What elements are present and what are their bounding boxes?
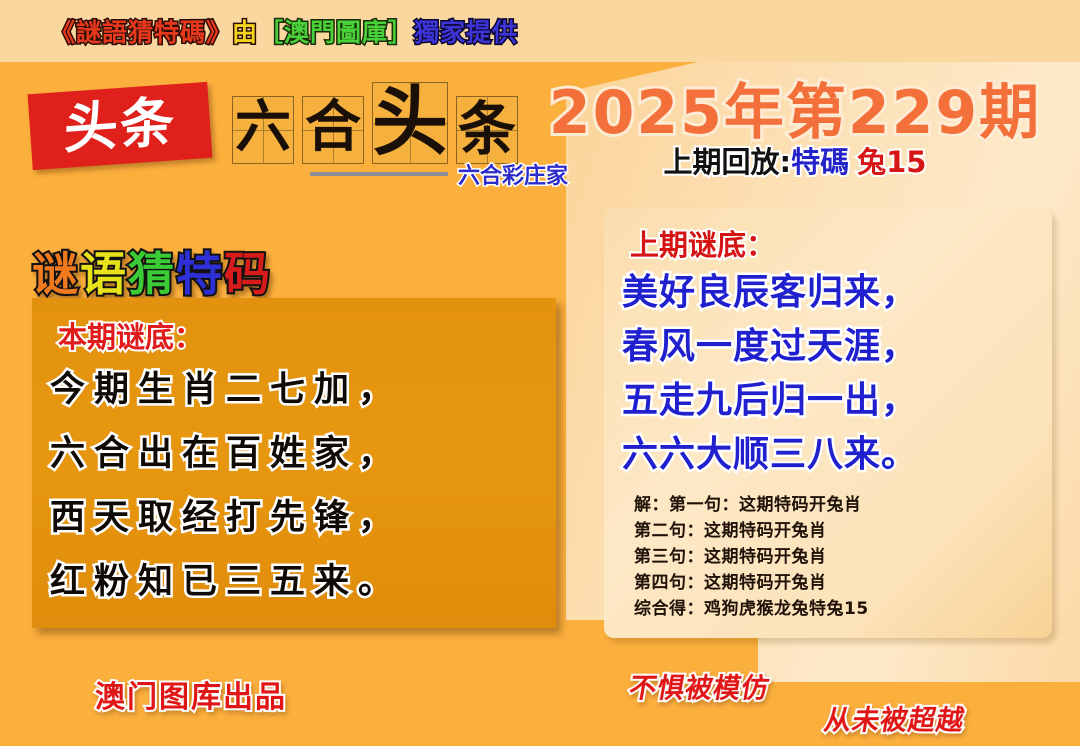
riddle-heading-char-5: 码 [224, 247, 272, 301]
previous-answer-line-3: 五走九后归一出， [622, 374, 1042, 428]
top-headline-text: 《謎語猜特碼》由［澳門圖庫］獨家提供 [50, 13, 518, 49]
previous-answer-line-1: 美好良辰客归来， [622, 266, 1042, 320]
note-line-1: 解：第一句：这期特码开兔肖 [634, 492, 1044, 518]
recap-value: 兔15 [857, 145, 926, 179]
recap-special-label: 特碼 [791, 145, 849, 179]
toutiao-badge-label: 头条 [63, 95, 177, 157]
brand-subline: 六合彩庄家 [310, 160, 580, 186]
recap-label: 上期回放: [664, 145, 792, 179]
riddle-heading-char-2: 语 [80, 247, 128, 301]
note-line-5: 综合得：鸡狗虎猴龙兔特兔15 [634, 596, 1044, 622]
previous-answer-notes: 解：第一句：这期特码开兔肖 第二句：这期特码开兔肖 第三句：这期特码开兔肖 第四… [634, 492, 1044, 622]
previous-answer-panel: 上期谜底： 美好良辰客归来， 春风一度过天涯， 五走九后归一出， 六六大顺三八来… [604, 208, 1052, 638]
note-line-3: 第三句：这期特码开兔肖 [634, 544, 1044, 570]
current-riddle-line-1: 今期生肖二七加， [50, 358, 550, 422]
brand-char-1: 六 [235, 100, 291, 156]
recap-line: 上期回放:特碼兔15 [545, 145, 1045, 180]
footer-slogan-right: 从未被超越 [822, 698, 969, 737]
current-riddle-label: 本期谜底： [58, 314, 203, 356]
brand-char-4: 条 [458, 100, 516, 158]
top-headline-part-4: 獨家提供 [414, 18, 518, 47]
toutiao-badge: 头条 [28, 82, 213, 170]
period-title: 2025年第229期 [545, 64, 1045, 151]
current-riddle-lines: 今期生肖二七加， 六合出在百姓家， 西天取经打先锋， 红粉知已三五来。 [50, 358, 550, 614]
brand-char-2: 合 [305, 100, 361, 156]
note-line-2: 第二句：这期特码开兔肖 [634, 518, 1044, 544]
current-riddle-line-3: 西天取经打先锋， [50, 486, 550, 550]
footer-slogan-mid: 不惧被模仿 [627, 666, 774, 705]
top-headline-part-1: 《謎語猜特碼》 [50, 18, 232, 47]
top-headline-part-2: 由 [232, 18, 258, 47]
previous-answer-line-4: 六六大顺三八来。 [622, 428, 1042, 482]
current-riddle-box: 本期谜底： 今期生肖二七加， 六合出在百姓家， 西天取经打先锋， 红粉知已三五来… [32, 298, 556, 628]
previous-answer-line-2: 春风一度过天涯， [622, 320, 1042, 374]
riddle-heading-char-1: 谜 [32, 247, 80, 301]
footer-slogan-left: 澳门图库出品 [95, 672, 287, 716]
current-riddle-line-2: 六合出在百姓家， [50, 422, 550, 486]
brand-char-3: 头 [372, 84, 448, 160]
current-riddle-line-4: 红粉知已三五来。 [50, 550, 550, 614]
note-line-4: 第四句：这期特码开兔肖 [634, 570, 1044, 596]
riddle-heading-char-3: 猜 [128, 247, 176, 301]
riddle-heading-char-4: 特 [176, 247, 224, 301]
riddle-heading: 谜语猜特码 [32, 238, 272, 304]
poster-canvas: 《謎語猜特碼》由［澳門圖庫］獨家提供 头条 六 合 头 条 六合彩庄家 2025… [0, 0, 1080, 746]
previous-answer-label: 上期谜底： [630, 222, 775, 264]
top-headline-part-3: ［澳門圖庫］ [258, 18, 414, 47]
subline-rule [310, 172, 448, 176]
previous-answer-lines: 美好良辰客归来， 春风一度过天涯， 五走九后归一出， 六六大顺三八来。 [622, 266, 1042, 482]
top-headline-strip: 《謎語猜特碼》由［澳門圖庫］獨家提供 [0, 0, 1080, 62]
